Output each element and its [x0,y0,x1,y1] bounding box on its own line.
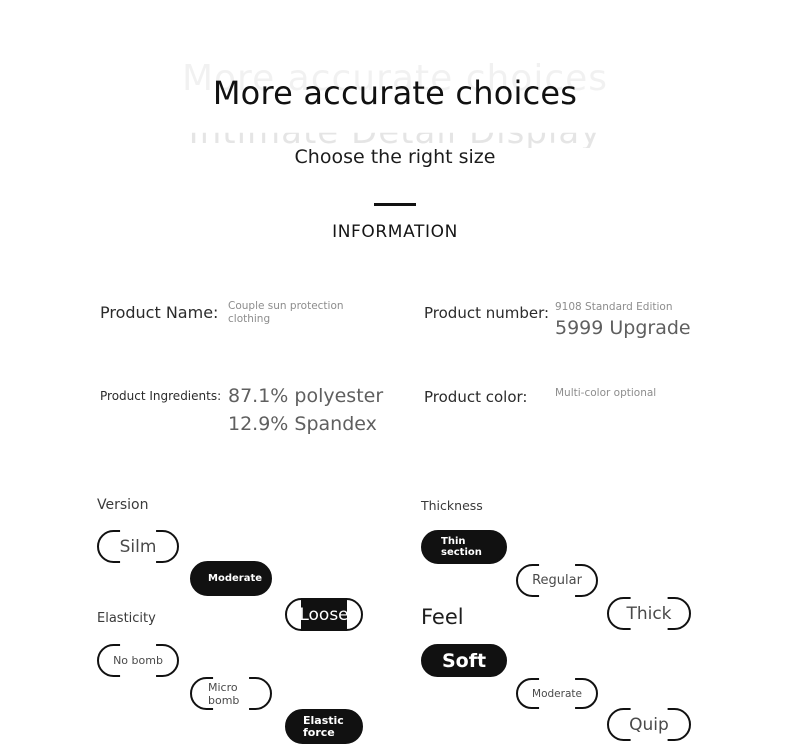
option-pill-loose[interactable]: Loose [285,598,363,631]
option-pill-label-thick: Thick [626,604,671,624]
option-group-feel: Feel Soft Moderate Quip [0,0,86,97]
page-title: More accurate choices [0,74,790,112]
spec-value-ingredient-polyester: 87.1% polyester [228,382,428,410]
page-subtitle: Choose the right size [0,146,790,168]
option-pill-elastic-force[interactable]: Elastic force [285,709,363,744]
option-pill-quip[interactable]: Quip [607,708,691,741]
option-pill-label-soft: Soft [442,650,486,672]
option-pill-label-no-bomb: No bomb [113,654,163,667]
spec-label-product-number: Product number: [424,304,549,322]
option-group-label-version: Version [97,497,148,513]
option-pill-label-elastic-force: Elastic force [303,715,344,739]
spec-label-product-name: Product Name: [100,303,218,322]
spec-value-product-number: 9108 Standard Edition 5999 Upgrade [555,301,755,342]
option-pill-moderate-feel[interactable]: Moderate [516,678,598,709]
option-pill-silm[interactable]: Silm [97,530,179,563]
option-pill-thin-section[interactable]: Thin section [421,530,507,564]
spec-label-product-ingredients: Product Ingredients: [100,389,221,403]
option-pill-thick[interactable]: Thick [607,597,691,630]
option-group-label-feel: Feel [421,605,464,629]
option-pill-micro-bomb[interactable]: Micro bomb [190,677,272,710]
option-pill-moderate-version[interactable]: Moderate [190,561,272,596]
spec-value-product-number-standard: 9108 Standard Edition [555,301,755,314]
option-pill-label-silm: Silm [120,537,157,557]
option-pill-no-bomb[interactable]: No bomb [97,644,179,677]
spec-value-product-name-text: Couple sun protection clothing [228,300,378,326]
spec-value-product-color: Multi-color optional [555,387,735,400]
spec-value-ingredient-spandex: 12.9% Spandex [228,410,428,438]
option-pill-soft[interactable]: Soft [421,644,507,677]
option-group-label-elasticity: Elasticity [97,611,156,626]
product-information-page: More accurate choices Intimate Detail Di… [0,0,790,718]
title-divider [374,203,416,206]
spec-value-product-ingredients: 87.1% polyester 12.9% Spandex [228,382,428,438]
option-pill-label-moderate-feel: Moderate [532,688,582,700]
option-pill-label-thin-section: Thin section [441,536,482,558]
option-group-label-thickness: Thickness [421,498,483,513]
section-heading-information: INFORMATION [0,222,790,242]
spec-value-product-number-upgrade: 5999 Upgrade [555,314,755,342]
option-pill-label-micro-bomb: Micro bomb [208,681,239,707]
option-pill-label-moderate-version: Moderate [208,573,262,584]
spec-value-product-color-text: Multi-color optional [555,387,735,400]
option-pill-regular[interactable]: Regular [516,564,598,597]
option-pill-label-regular: Regular [532,573,582,588]
option-pill-label-loose: Loose [299,605,348,625]
spec-label-product-color: Product color: [424,388,527,406]
spec-value-product-name: Couple sun protection clothing [228,300,378,326]
